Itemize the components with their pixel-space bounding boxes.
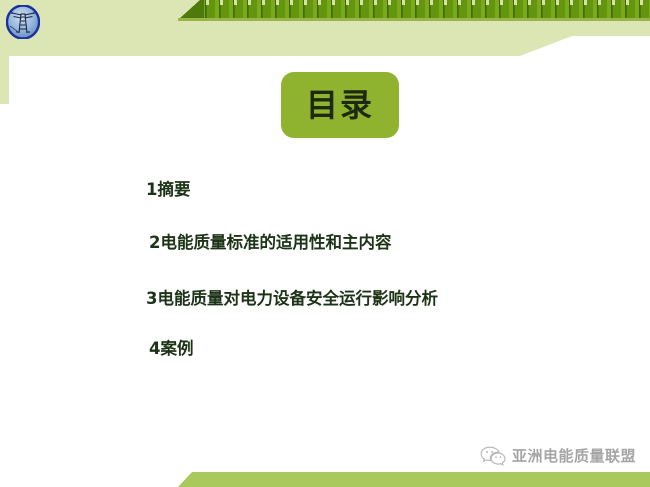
agenda-item-3[interactable]: 3电能质量对电力设备安全运行影响分析	[146, 291, 438, 308]
agenda-item-1[interactable]: 1摘要	[146, 182, 190, 199]
header-ribbon-notches	[178, 0, 650, 5]
watermark: 亚洲电能质量联盟	[480, 445, 636, 466]
header-ribbon-bottom-edge	[178, 18, 650, 21]
agenda-item-2[interactable]: 2电能质量标准的适用性和主内容	[149, 235, 391, 252]
presentation-slide: 目录 1摘要 2电能质量标准的适用性和主内容 3电能质量对电力设备安全运行影响分…	[0, 0, 650, 487]
bottom-accent-bar	[178, 472, 650, 487]
watermark-label: 亚洲电能质量联盟	[512, 445, 636, 466]
agenda-item-4[interactable]: 4案例	[149, 341, 193, 358]
power-tower-emblem-icon	[6, 5, 40, 39]
slide-title-plate: 目录	[281, 72, 399, 138]
page-title: 目录	[306, 89, 374, 121]
wechat-icon	[480, 446, 506, 466]
left-accent-strip	[0, 56, 9, 104]
